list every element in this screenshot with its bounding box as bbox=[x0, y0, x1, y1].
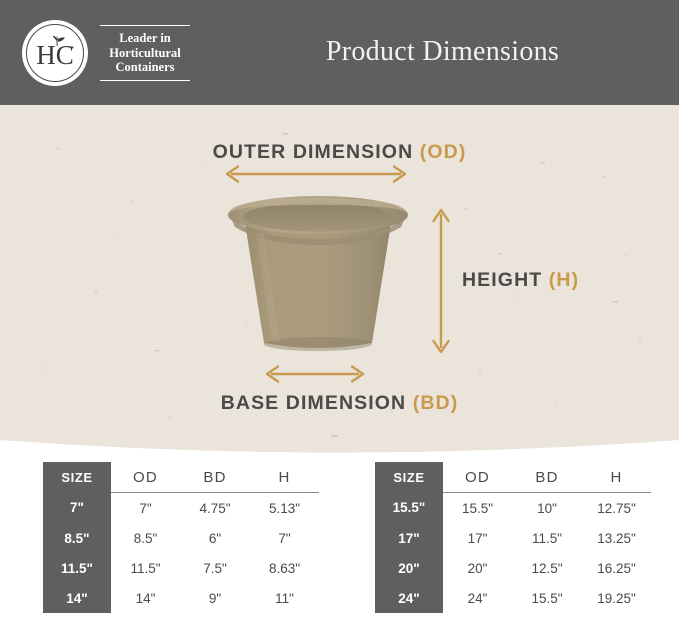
value-cell: 11" bbox=[250, 583, 319, 613]
table-row: 8.5"8.5"6"7" bbox=[43, 523, 319, 553]
value-cell: 15.5" bbox=[512, 583, 582, 613]
size-cell: 11.5" bbox=[43, 553, 111, 583]
value-cell: 15.5" bbox=[443, 493, 512, 524]
value-cell: 7" bbox=[250, 523, 319, 553]
value-cell: 12.5" bbox=[512, 553, 582, 583]
size-cell: 20" bbox=[375, 553, 443, 583]
table-row: 7"7"4.75"5.13" bbox=[43, 493, 319, 524]
spec-table-small-sizes: SIZEODBDH7"7"4.75"5.13"8.5"8.5"6"7"11.5"… bbox=[43, 462, 319, 613]
table-row: 14"14"9"11" bbox=[43, 583, 319, 613]
value-cell: 7" bbox=[111, 493, 180, 524]
column-header-bd: BD bbox=[512, 462, 582, 493]
value-cell: 14" bbox=[111, 583, 180, 613]
table-row: 15.5"15.5"10"12.75" bbox=[375, 493, 651, 524]
column-header-h: H bbox=[250, 462, 319, 493]
value-cell: 11.5" bbox=[512, 523, 582, 553]
value-cell: 5.13" bbox=[250, 493, 319, 524]
value-cell: 12.75" bbox=[582, 493, 651, 524]
planter-pot-illustration bbox=[222, 193, 414, 365]
height-abbr: (H) bbox=[549, 269, 579, 291]
spec-table-large-sizes: SIZEODBDH15.5"15.5"10"12.75"17"17"11.5"1… bbox=[375, 462, 651, 613]
value-cell: 7.5" bbox=[180, 553, 250, 583]
value-cell: 11.5" bbox=[111, 553, 180, 583]
base-dimension-text: BASE DIMENSION bbox=[221, 392, 413, 414]
size-cell: 8.5" bbox=[43, 523, 111, 553]
column-header-od: OD bbox=[111, 462, 180, 493]
column-header-h: H bbox=[582, 462, 651, 493]
height-arrow-icon bbox=[429, 205, 453, 357]
height-label: HEIGHT (H) bbox=[462, 269, 579, 292]
table-header-row: SIZEODBDH bbox=[375, 462, 651, 493]
outer-dimension-abbr: (OD) bbox=[420, 141, 467, 163]
value-cell: 24" bbox=[443, 583, 512, 613]
base-dimension-arrow-icon bbox=[262, 363, 368, 385]
table-header-row: SIZEODBDH bbox=[43, 462, 319, 493]
size-cell: 15.5" bbox=[375, 493, 443, 524]
outer-dimension-text: OUTER DIMENSION bbox=[213, 141, 420, 163]
table-row: 20"20"12.5"16.25" bbox=[375, 553, 651, 583]
value-cell: 17" bbox=[443, 523, 512, 553]
value-cell: 13.25" bbox=[582, 523, 651, 553]
table-row: 11.5"11.5"7.5"8.63" bbox=[43, 553, 319, 583]
outer-dimension-arrow-icon bbox=[222, 163, 410, 185]
height-text: HEIGHT bbox=[462, 269, 549, 291]
spec-tables: SIZEODBDH7"7"4.75"5.13"8.5"8.5"6"7"11.5"… bbox=[0, 462, 679, 613]
column-header-od: OD bbox=[443, 462, 512, 493]
column-header-size: SIZE bbox=[375, 462, 443, 493]
page-title: Product Dimensions bbox=[0, 36, 679, 68]
size-cell: 24" bbox=[375, 583, 443, 613]
base-dimension-label: BASE DIMENSION (BD) bbox=[0, 392, 679, 415]
value-cell: 8.63" bbox=[250, 553, 319, 583]
value-cell: 20" bbox=[443, 553, 512, 583]
base-dimension-abbr: (BD) bbox=[413, 392, 459, 414]
value-cell: 9" bbox=[180, 583, 250, 613]
value-cell: 16.25" bbox=[582, 553, 651, 583]
header-band: HC Leader in Horticultural Containers Pr… bbox=[0, 0, 679, 105]
value-cell: 19.25" bbox=[582, 583, 651, 613]
column-header-bd: BD bbox=[180, 462, 250, 493]
value-cell: 4.75" bbox=[180, 493, 250, 524]
size-cell: 17" bbox=[375, 523, 443, 553]
value-cell: 8.5" bbox=[111, 523, 180, 553]
diagram-panel: OUTER DIMENSION (OD) bbox=[0, 105, 679, 457]
size-cell: 7" bbox=[43, 493, 111, 524]
table-row: 24"24"15.5"19.25" bbox=[375, 583, 651, 613]
value-cell: 10" bbox=[512, 493, 582, 524]
outer-dimension-label: OUTER DIMENSION (OD) bbox=[0, 141, 679, 164]
table-row: 17"17"11.5"13.25" bbox=[375, 523, 651, 553]
column-header-size: SIZE bbox=[43, 462, 111, 493]
value-cell: 6" bbox=[180, 523, 250, 553]
size-cell: 14" bbox=[43, 583, 111, 613]
